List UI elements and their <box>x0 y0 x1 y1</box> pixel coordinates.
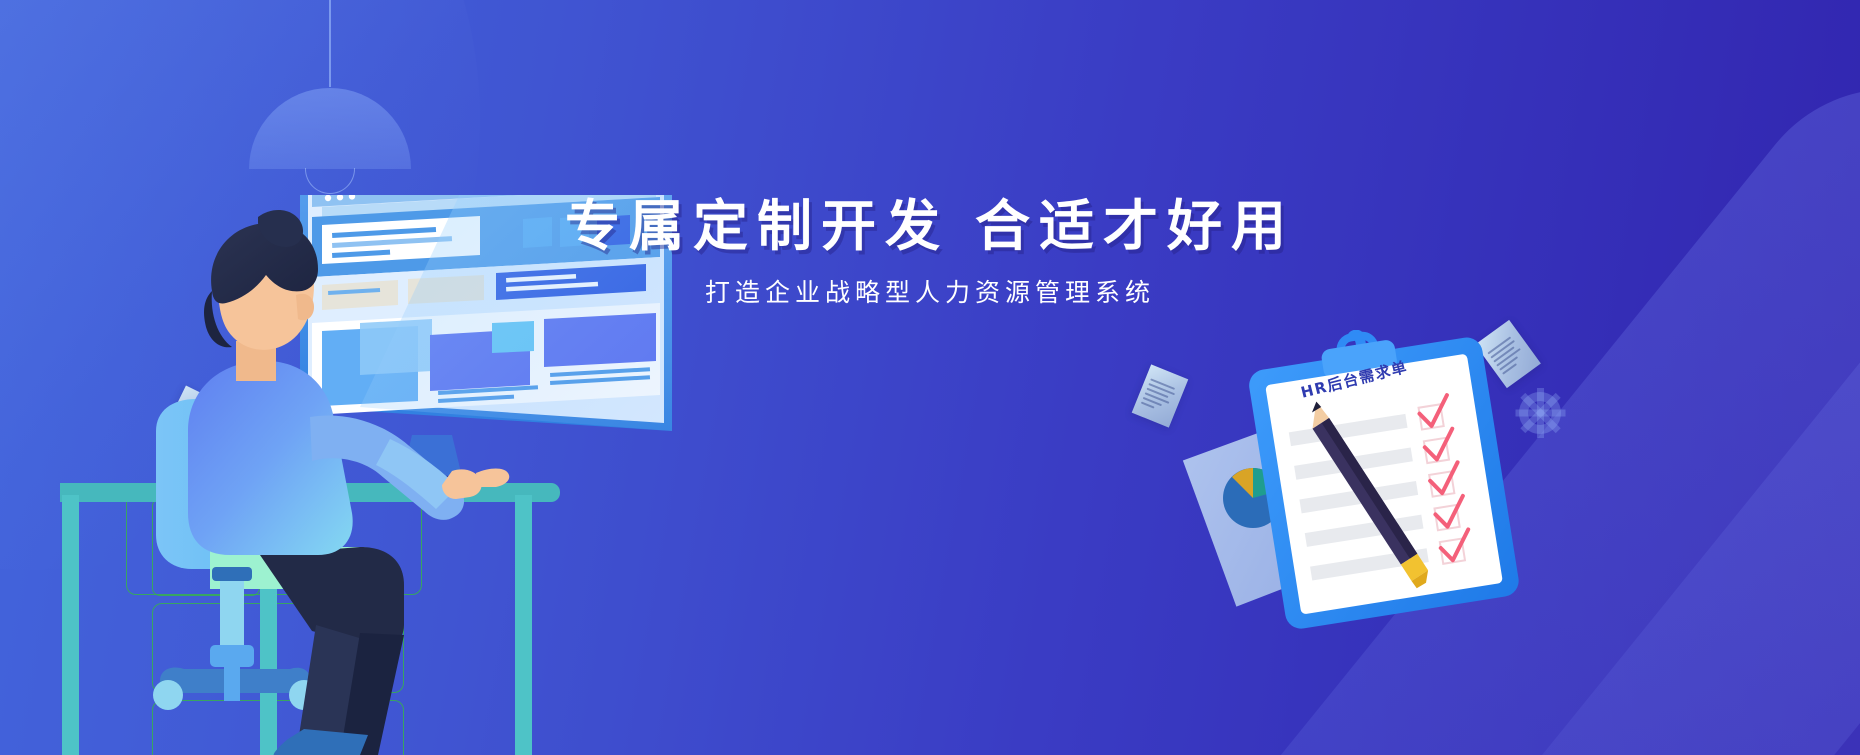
headline-part-2: 合适才好用 <box>975 194 1295 258</box>
pendant-lamp-bulb-icon <box>305 168 355 194</box>
page-subtitle: 打造企业战略型人力资源管理系统 <box>0 278 1860 308</box>
pendant-lamp-cord-icon <box>329 0 331 87</box>
headline-part-1: 专属定制开发 <box>565 194 949 258</box>
pendant-lamp-shade-icon <box>249 88 411 169</box>
illustration-hr-clipboard: HR后台需求单 <box>1175 330 1575 650</box>
page-title: 专属定制开发合适才好用 <box>0 196 1860 258</box>
hero-banner: 专属定制开发合适才好用 打造企业战略型人力资源管理系统 <box>0 0 1860 755</box>
hero-text-block: 专属定制开发合适才好用 打造企业战略型人力资源管理系统 <box>0 196 1860 308</box>
